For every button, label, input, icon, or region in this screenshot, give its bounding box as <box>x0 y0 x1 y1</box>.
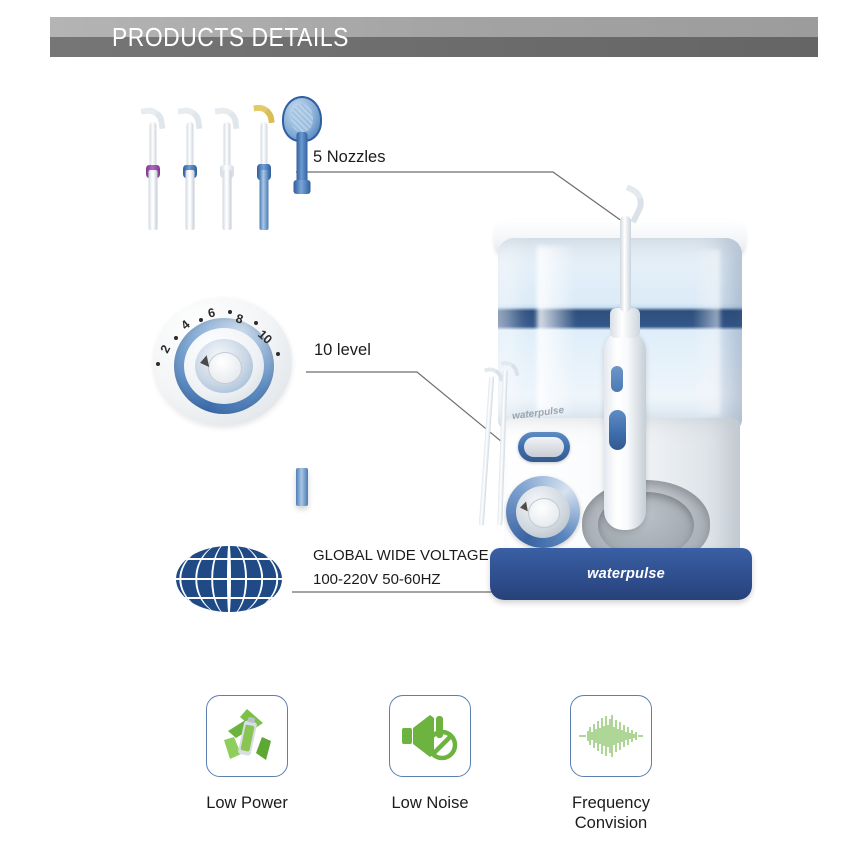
handle-attached-nozzle <box>620 216 631 312</box>
feature-label: Low Noise <box>330 793 530 813</box>
feature-low-noise: Low Noise <box>330 695 530 813</box>
feature-label-line2: Convision <box>575 814 647 832</box>
feature-icon-box <box>206 695 288 777</box>
dial-dot <box>228 310 232 314</box>
dial-dot <box>254 321 258 325</box>
globe-icon <box>176 546 282 612</box>
nozzle-shaft <box>185 170 194 230</box>
waveform-icon <box>578 713 644 759</box>
nozzle-purple <box>146 108 159 230</box>
feature-label: Frequency Convision <box>511 793 711 833</box>
detached-nozzle-icon <box>614 184 650 223</box>
tank-highlight <box>537 246 576 415</box>
callout-label-nozzles: 5 Nozzles <box>313 148 385 167</box>
power-button[interactable] <box>518 432 570 462</box>
nozzle-tip <box>149 122 156 168</box>
product-device-image: waterpulse waterpulse <box>470 180 770 610</box>
nozzle-white <box>220 108 233 230</box>
callout-label-level: 10 level <box>314 341 371 360</box>
nozzle-collar <box>293 180 310 194</box>
nozzle-tip <box>260 122 267 168</box>
callout-label-voltage-line1: GLOBAL WIDE VOLTAGE <box>313 544 489 567</box>
dial-dot <box>276 352 280 356</box>
handle-neck <box>610 308 640 338</box>
feature-label: Low Power <box>147 793 347 813</box>
pressure-dial-image: 2 4 6 8 10 <box>148 296 298 428</box>
nozzle-set-image <box>146 100 326 230</box>
nozzle-tip <box>223 122 230 168</box>
section-header-bar: PRODUCTS DETAILS <box>50 17 818 57</box>
dial-dot <box>174 336 178 340</box>
callout-label-voltage-line2: 100-220V 50-60HZ <box>313 568 441 591</box>
product-details-page: PRODUCTS DETAILS <box>0 0 855 855</box>
dial-core <box>208 352 242 384</box>
nozzle-tip <box>186 122 193 168</box>
nozzle-base <box>296 468 308 506</box>
feature-icon-box <box>570 695 652 777</box>
muted-speaker-icon <box>400 711 460 761</box>
nozzle-shaft <box>148 170 157 230</box>
recycle-battery-icon <box>216 707 278 765</box>
nozzle-shaft <box>259 170 268 230</box>
feature-icon-box <box>389 695 471 777</box>
stored-nozzle-arm <box>479 376 494 526</box>
feature-low-power: Low Power <box>147 695 347 813</box>
dial-dot <box>156 362 160 366</box>
nozzle-stem <box>296 132 307 184</box>
handle-upper-button[interactable] <box>611 366 623 392</box>
nozzle-tongue-cleaner <box>295 100 308 230</box>
page-title: PRODUCTS DETAILS <box>112 15 349 59</box>
device-base-brand: waterpulse <box>566 566 686 582</box>
tank-highlight <box>693 250 720 415</box>
nozzle-blue <box>183 108 196 230</box>
pressure-knob-core <box>528 498 560 528</box>
nozzle-shaft <box>222 170 231 230</box>
feature-frequency-convision: Frequency Convision <box>511 695 711 833</box>
nozzle-orthodontic <box>257 108 270 230</box>
dial-dot <box>199 318 203 322</box>
feature-label-line1: Frequency <box>572 794 650 812</box>
handle-slider-button[interactable] <box>609 410 626 450</box>
pressure-knob-pointer-icon <box>519 501 528 512</box>
